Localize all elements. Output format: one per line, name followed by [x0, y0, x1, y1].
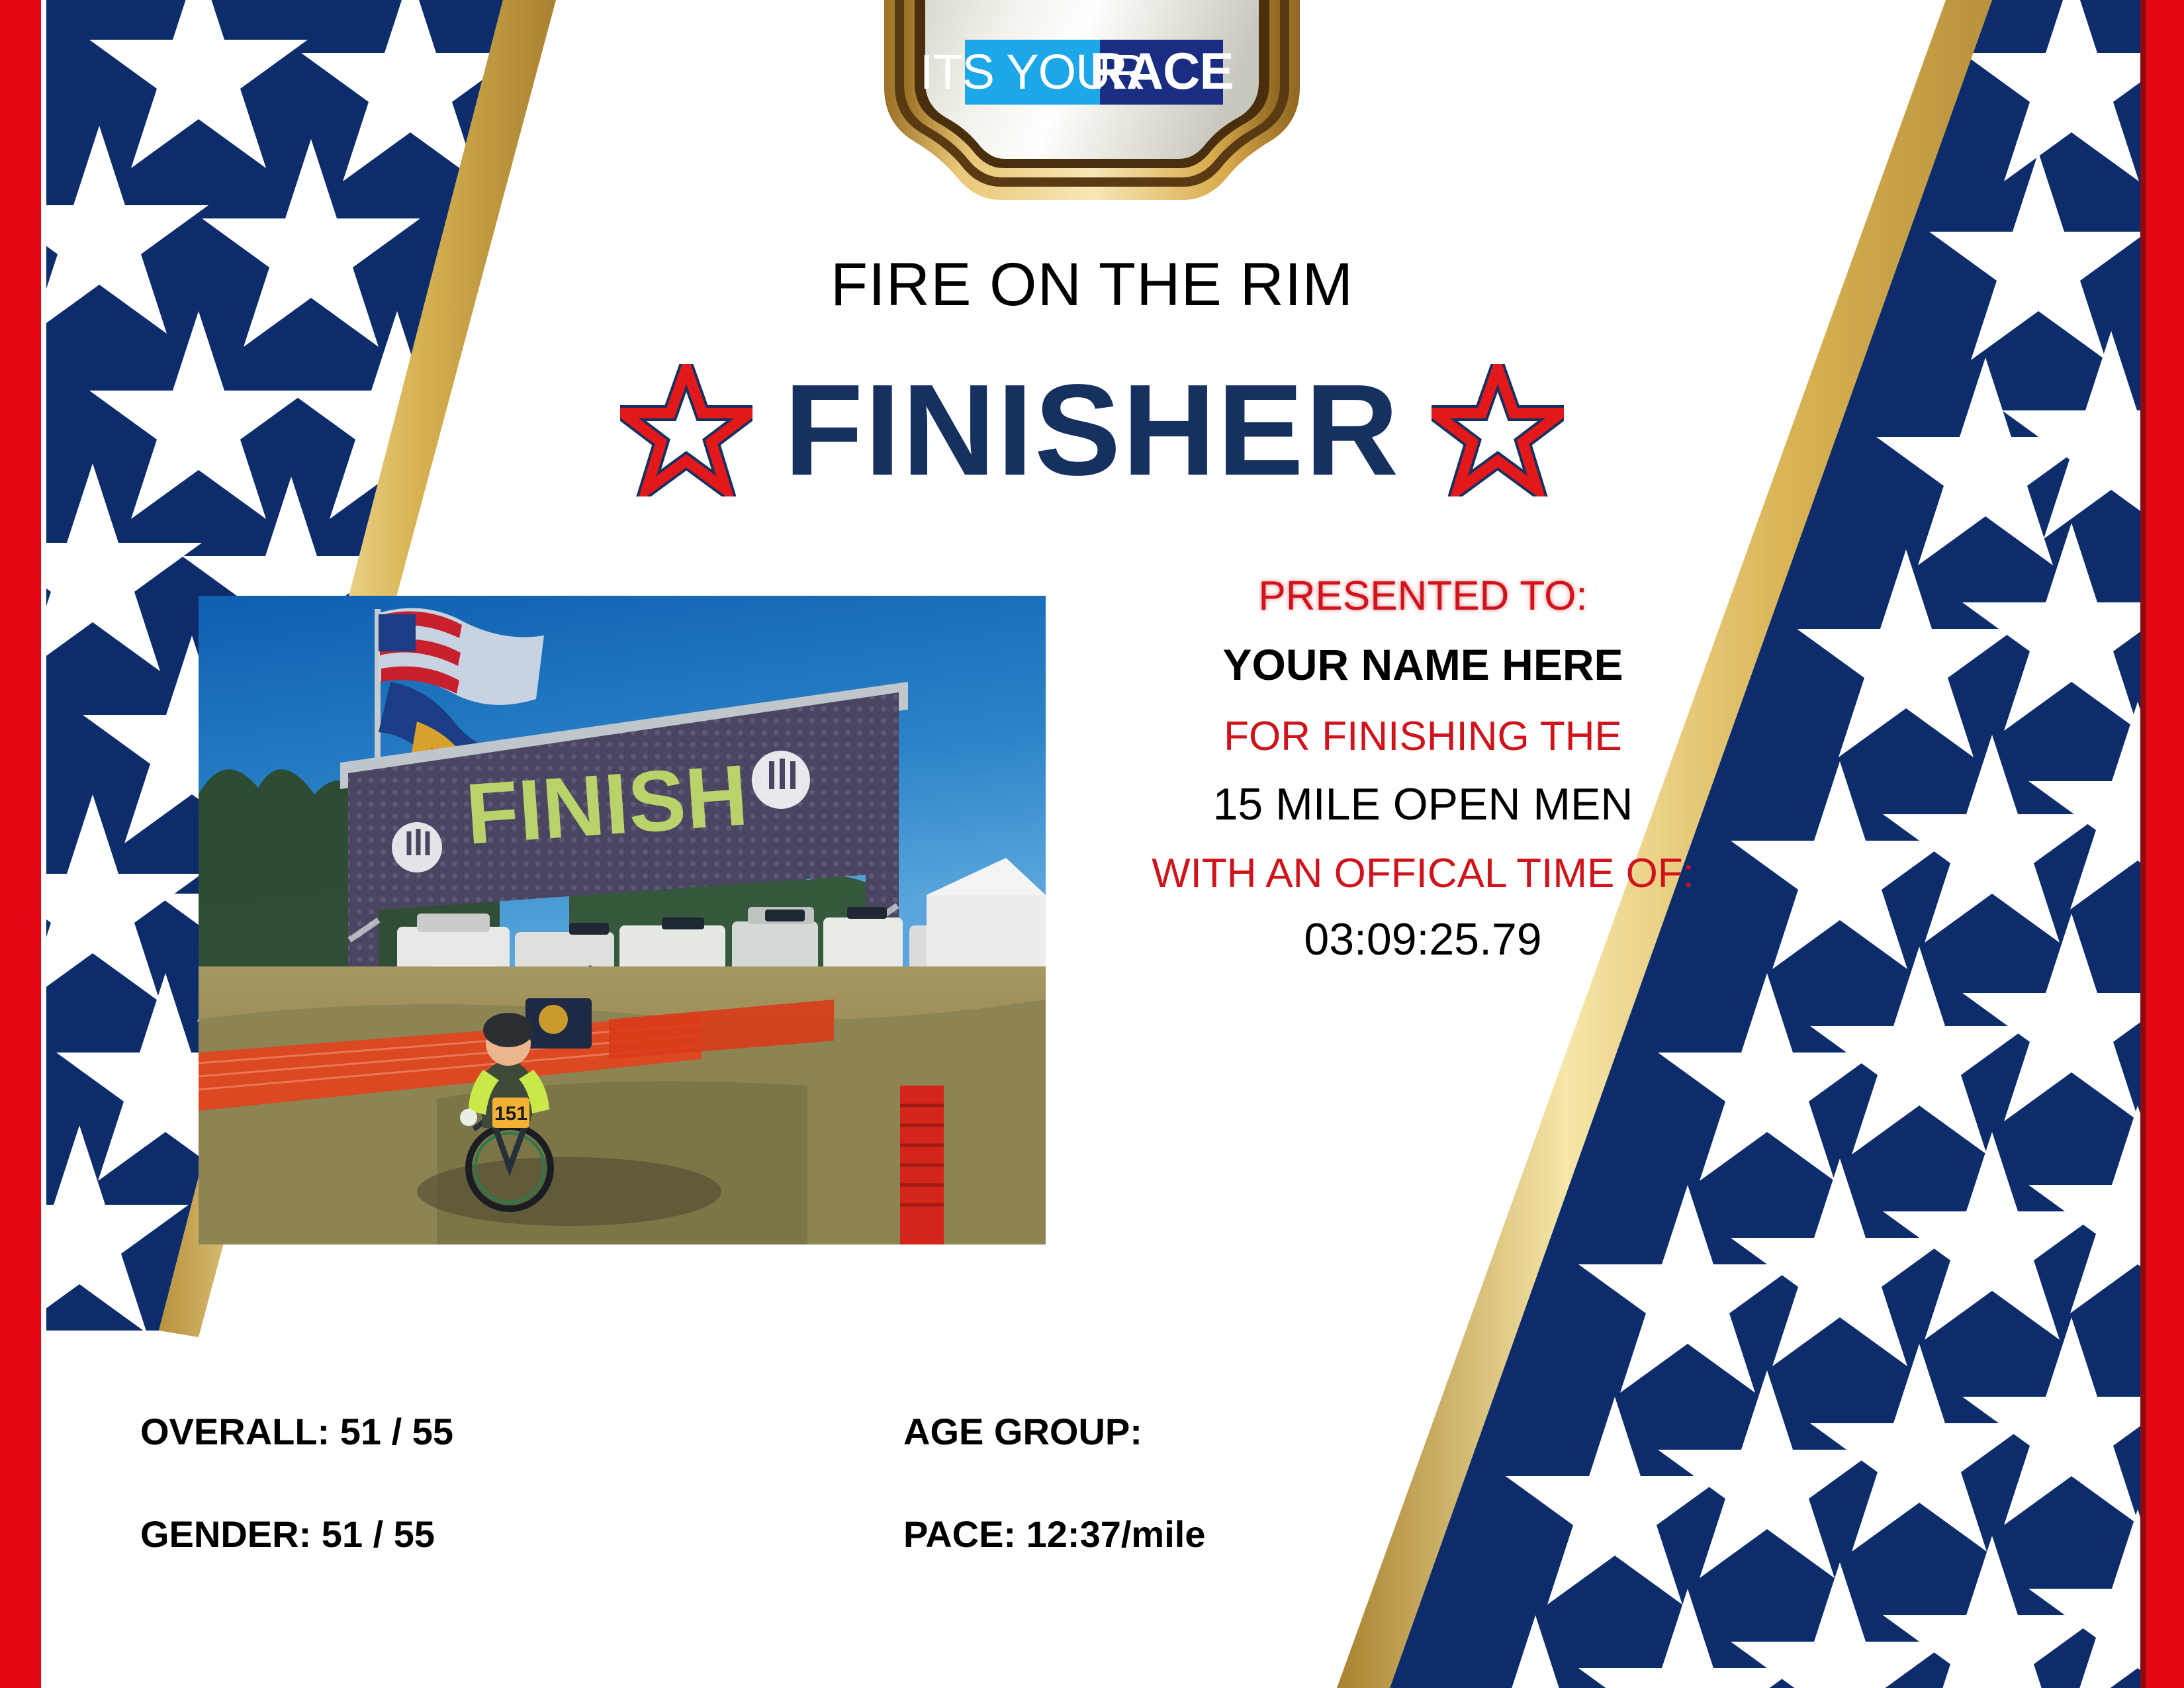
- official-time-label: WITH AN OFFICAL TIME OF:: [1059, 852, 1787, 896]
- award-title: FINISHER: [784, 365, 1400, 495]
- results-stats-block: OVERALL: 51 / 55 AGE GROUP: GENDER: 51 /…: [140, 1410, 1365, 1556]
- star-right-icon: [1432, 364, 1564, 496]
- finish-line-photo: FINISH: [199, 596, 1046, 1244]
- event-category: 15 MILE OPEN MEN: [1059, 780, 1787, 828]
- official-time-value: 03:09:25.79: [1059, 915, 1787, 963]
- finisher-heading-row: FINISHER: [0, 344, 2184, 516]
- star-left-icon: [620, 364, 752, 496]
- svg-text:RACE: RACE: [1089, 42, 1233, 100]
- for-finishing-label: FOR FINISHING THE: [1059, 715, 1787, 759]
- recipient-name: YOUR NAME HERE: [1059, 642, 1787, 688]
- stat-pace: PACE: 12:37/mile: [752, 1513, 1365, 1556]
- svg-text:FINISH: FINISH: [463, 746, 751, 862]
- presented-to-label: PRESENTED TO:: [1059, 575, 1787, 618]
- stat-gender: GENDER: 51 / 55: [140, 1513, 752, 1556]
- svg-text:151: 151: [494, 1103, 527, 1125]
- stat-overall: OVERALL: 51 / 55: [140, 1410, 752, 1453]
- stat-age-group: AGE GROUP:: [752, 1410, 1365, 1453]
- race-name-heading: FIRE ON THE RIM: [0, 250, 2184, 320]
- its-your-race-logo: ITS YOUR RACE: [872, 0, 1312, 207]
- award-text-block: PRESENTED TO: YOUR NAME HERE FOR FINISHI…: [1059, 575, 1787, 963]
- certificate-page: ITS YOUR RACE FIRE ON THE RIM FINISHER: [0, 0, 2184, 1688]
